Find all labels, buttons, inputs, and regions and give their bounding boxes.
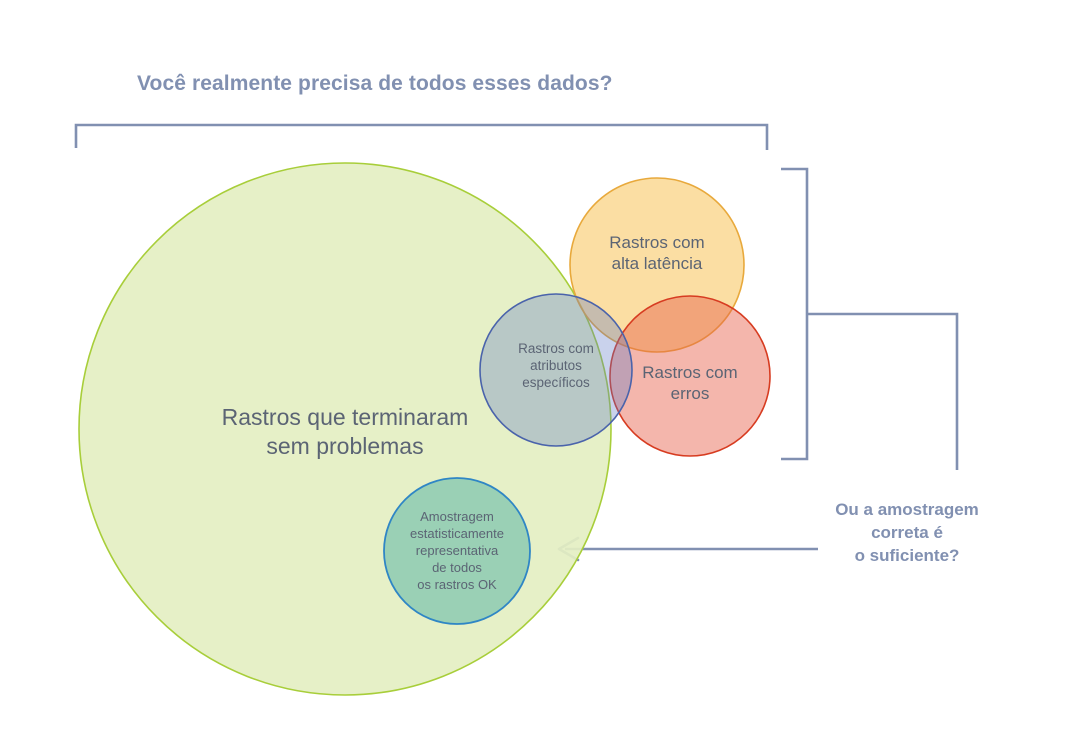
circle-specific-attributes	[480, 294, 632, 446]
side-question-line: o suficiente?	[797, 544, 1017, 567]
circle-with-errors	[610, 296, 770, 456]
side-question-line: Ou a amostragem	[797, 498, 1017, 521]
right-bracket-stem	[807, 314, 957, 470]
venn-circles	[79, 163, 770, 695]
side-question-line: correta é	[797, 521, 1017, 544]
side-question: Ou a amostragem correta é o suficiente?	[797, 498, 1017, 567]
diagram-canvas: Você realmente precisa de todos esses da…	[0, 0, 1077, 753]
right-bracket	[781, 169, 807, 459]
page-title: Você realmente precisa de todos esses da…	[137, 72, 613, 96]
venn-diagram-svg	[0, 0, 1077, 753]
top-bracket	[76, 125, 767, 150]
circle-statistical-sampling	[384, 478, 530, 624]
